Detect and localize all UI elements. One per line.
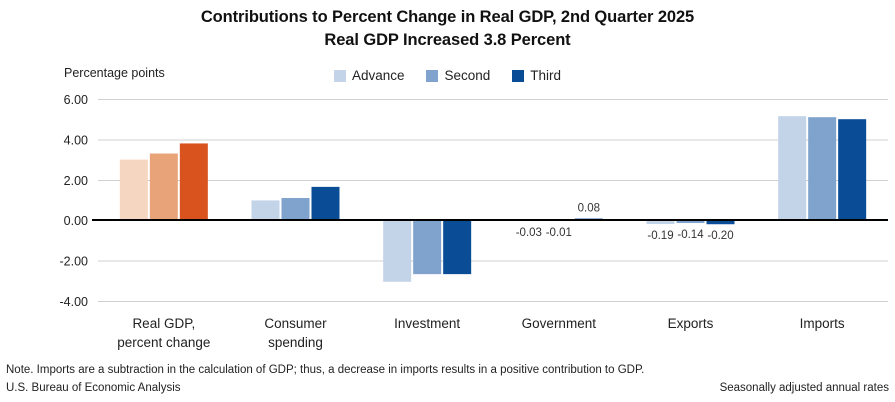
footer-note: Note. Imports are a subtraction in the c…	[6, 362, 889, 378]
bar-investment-third	[443, 220, 471, 274]
x-axis-category-label: spending	[268, 335, 323, 350]
x-axis-category-label: Exports	[668, 316, 714, 331]
bar-imports-third	[838, 119, 866, 220]
bar-real-gdp-advance	[120, 160, 148, 221]
x-axis-category-label: percent change	[117, 335, 210, 350]
y-axis-tick-label: 4.00	[64, 133, 88, 147]
bar-investment-advance	[383, 220, 411, 282]
y-axis-tick-label: -4.00	[60, 295, 89, 309]
bar-value-label: -0.01	[546, 227, 572, 239]
bar-value-label: -0.20	[707, 230, 733, 242]
y-axis-tick-label: 2.00	[64, 174, 88, 188]
bar-consumer-spending-second	[282, 198, 310, 220]
x-axis-category-label: Government	[522, 316, 597, 331]
bar-real-gdp-third	[180, 143, 208, 220]
y-axis-tick-label: 0.00	[64, 214, 88, 228]
bar-investment-second	[413, 220, 441, 274]
x-axis-category-label: Imports	[800, 316, 845, 331]
y-axis-tick-label: -2.00	[60, 255, 89, 269]
chart-plot-area: 6.004.002.000.00-2.00-4.000.08-0.03-0.01…	[0, 0, 895, 360]
x-axis-category-label: Investment	[394, 316, 460, 331]
bar-value-label: -0.19	[647, 230, 673, 242]
footer-rate-note: Seasonally adjusted annual rates	[720, 380, 889, 396]
footer-source: U.S. Bureau of Economic Analysis	[6, 380, 181, 396]
bar-real-gdp-second	[150, 154, 178, 221]
bar-consumer-spending-advance	[252, 200, 280, 220]
bar-value-label: -0.03	[516, 227, 542, 239]
x-axis-category-label: Consumer	[264, 316, 327, 331]
x-axis-category-label: Real GDP,	[132, 316, 195, 331]
bar-imports-advance	[778, 116, 806, 220]
bar-consumer-spending-third	[312, 187, 340, 220]
y-axis-tick-label: 6.00	[64, 93, 88, 107]
footer-row: U.S. Bureau of Economic Analysis Seasona…	[6, 380, 889, 396]
chart-footer: Note. Imports are a subtraction in the c…	[6, 362, 889, 396]
gdp-contributions-chart: Contributions to Percent Change in Real …	[0, 0, 895, 402]
bar-imports-second	[808, 117, 836, 220]
bar-value-label: 0.08	[578, 203, 600, 215]
bar-value-label: -0.14	[677, 229, 704, 241]
